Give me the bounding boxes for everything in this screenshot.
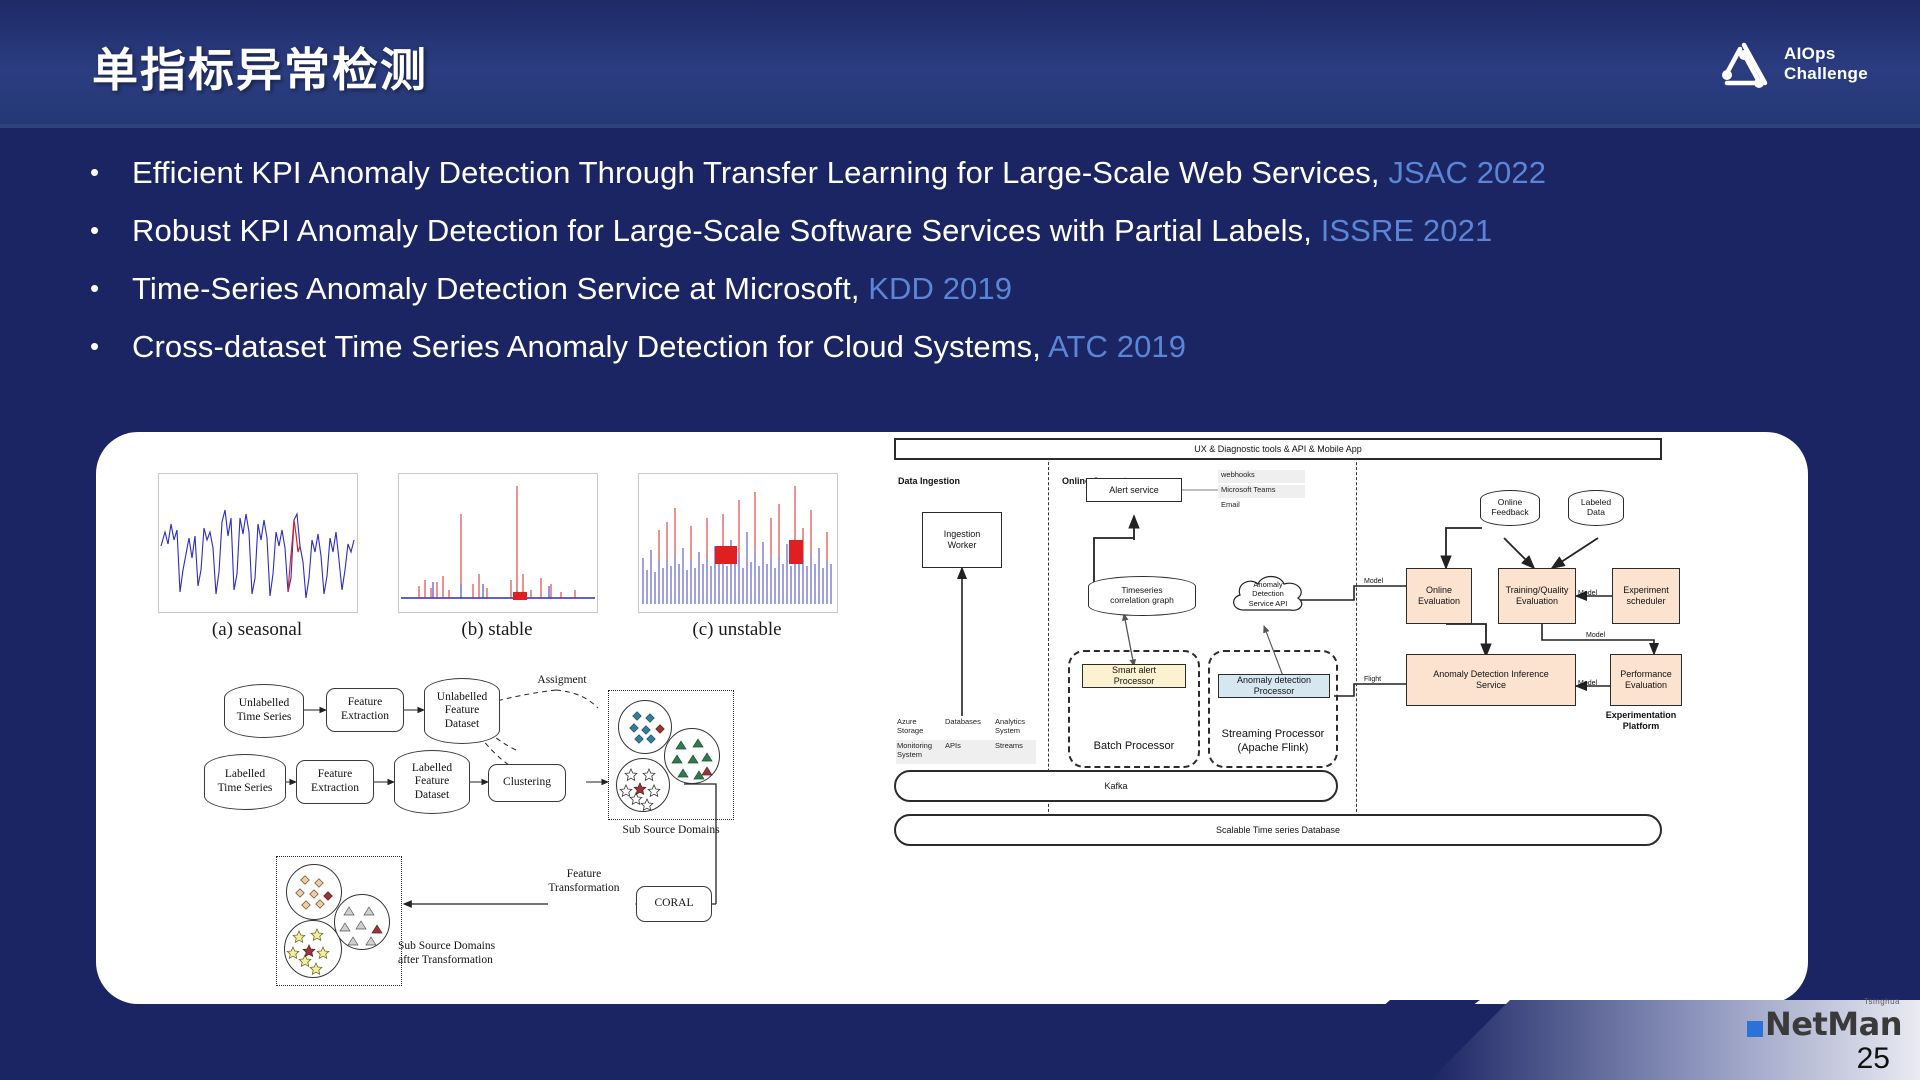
reference-list: • Efficient KPI Anomaly Detection Throug… xyxy=(86,155,1846,387)
list-item: • Cross-dataset Time Series Anomaly Dete… xyxy=(86,329,1846,365)
venue-tag: ATC 2019 xyxy=(1048,329,1186,364)
logo-text: AIOps Challenge xyxy=(1784,44,1868,84)
triangle-markers-transformed xyxy=(335,895,391,951)
divider-compute xyxy=(1356,442,1357,842)
online-feedback-store: OnlineFeedback xyxy=(1480,490,1540,526)
domain-circle-diamonds xyxy=(618,700,672,754)
box-label: Anomaly detectionProcessor xyxy=(1237,675,1311,697)
ux-bar-label: UX & Diagnostic tools & API & Mobile App xyxy=(1194,444,1362,455)
coral-node: CORAL xyxy=(636,886,712,922)
assignment-label: Assigment xyxy=(516,674,608,688)
bullet-marker: • xyxy=(86,329,132,363)
unlabelled-time-series-store: UnlabelledTime Series xyxy=(224,684,304,738)
anomaly-detection-architecture: UX & Diagnostic tools & API & Mobile App… xyxy=(886,432,1786,998)
kpi-caption-unstable: (c) unstable xyxy=(638,619,836,641)
feature-transformation-label: FeatureTransformation xyxy=(534,868,634,896)
domain-circle-triangles xyxy=(664,728,720,784)
logo-line-1: AIOps xyxy=(1784,44,1868,64)
channel-email: Email xyxy=(1218,500,1305,513)
source-apis: APIs xyxy=(944,740,994,761)
star-markers xyxy=(617,759,671,813)
reference-text: Time-Series Anomaly Detection Service at… xyxy=(132,271,1012,307)
experiment-scheduler-box: Experimentscheduler xyxy=(1612,568,1680,624)
box-label: PerformanceEvaluation xyxy=(1620,669,1672,691)
box-label: IngestionWorker xyxy=(944,529,981,551)
list-item: • Robust KPI Anomaly Detection for Large… xyxy=(86,213,1846,249)
node-label: FeatureExtraction xyxy=(311,768,359,795)
training-quality-evaluation-box: Training/QualityEvaluation xyxy=(1498,568,1576,624)
slide-header: 单指标异常检测 AIOps Challenge xyxy=(0,0,1920,128)
reference-text: Robust KPI Anomaly Detection for Large-S… xyxy=(132,213,1492,249)
box-label: LabeledData xyxy=(1581,498,1611,518)
source-databases: Databases xyxy=(944,716,994,737)
feature-extraction-node-1: FeatureExtraction xyxy=(326,688,404,732)
transfer-learning-diagram: UnlabelledTime Series FeatureExtraction … xyxy=(216,672,856,992)
kpi-plot-seasonal xyxy=(158,473,358,613)
kafka-label: Kafka xyxy=(1104,781,1127,791)
kpi-plot-unstable xyxy=(638,473,838,613)
node-label: FeatureExtraction xyxy=(341,696,389,723)
box-label: Alert service xyxy=(1109,485,1159,496)
ingestion-worker-box: IngestionWorker xyxy=(922,512,1002,568)
box-label: OnlineEvaluation xyxy=(1418,585,1460,607)
node-label: LabelledTime Series xyxy=(218,768,273,795)
batch-processor-label: Batch Processor xyxy=(1068,740,1200,754)
venue-tag: ISSRE 2021 xyxy=(1321,213,1493,248)
transformed-circle-diamonds xyxy=(286,864,342,920)
bullet-marker: • xyxy=(86,213,132,247)
node-label: CORAL xyxy=(655,897,694,911)
aiops-challenge-logo: AIOps Challenge xyxy=(1718,40,1868,88)
ux-diagnostic-bar: UX & Diagnostic tools & API & Mobile App xyxy=(894,438,1662,460)
channel-microsoft-teams: Microsoft Teams xyxy=(1218,485,1305,498)
anomaly-detection-service-api-cloud: AnomalyDetectionService API xyxy=(1226,568,1310,622)
kpi-caption-seasonal: (a) seasonal xyxy=(158,619,356,641)
box-label: Timeseriescorrelation graph xyxy=(1110,586,1174,606)
node-label: UnlabelledTime Series xyxy=(237,697,292,724)
section-data-ingestion: Data Ingestion xyxy=(898,476,960,487)
source-analytics-system: AnalyticsSystem xyxy=(994,716,1036,737)
netman-wordmark: NetMan xyxy=(1765,1005,1902,1043)
labelled-feature-dataset-store: LabelledFeatureDataset xyxy=(394,750,470,814)
cloud-label: AnomalyDetectionService API xyxy=(1226,580,1310,608)
venue-tag: KDD 2019 xyxy=(868,271,1012,306)
bullet-marker: • xyxy=(86,155,132,189)
transformed-circle-triangles xyxy=(334,894,390,950)
channel-webhooks: webhooks xyxy=(1218,470,1305,483)
list-item: • Efficient KPI Anomaly Detection Throug… xyxy=(86,155,1846,191)
venue-tag: JSAC 2022 xyxy=(1388,155,1546,190)
performance-evaluation-box: PerformanceEvaluation xyxy=(1610,654,1682,706)
anomaly-detection-inference-service-box: Anomaly Detection InferenceService xyxy=(1406,654,1576,706)
timeseries-correlation-graph-store: Timeseriescorrelation graph xyxy=(1088,576,1196,616)
source-streams: Streams xyxy=(994,740,1036,761)
netman-square-icon xyxy=(1747,1021,1763,1037)
feature-extraction-node-2: FeatureExtraction xyxy=(296,760,374,804)
triangle-markers xyxy=(665,729,721,785)
source-azure-storage: AzureStorage xyxy=(896,716,944,737)
logo-line-2: Challenge xyxy=(1784,64,1868,84)
reference-text: Cross-dataset Time Series Anomaly Detect… xyxy=(132,329,1186,365)
tsdb-label: Scalable Time series Database xyxy=(1216,825,1340,835)
edge-label-model-2: Model xyxy=(1578,590,1597,599)
reference-text: Efficient KPI Anomaly Detection Through … xyxy=(132,155,1546,191)
node-label: Clustering xyxy=(503,776,551,790)
box-label: Experimentscheduler xyxy=(1623,585,1669,607)
box-label: Anomaly Detection InferenceService xyxy=(1433,669,1549,691)
streaming-processor-label: Streaming Processor(Apache Flink) xyxy=(1208,728,1338,756)
edge-label-model-4: Model xyxy=(1578,680,1597,689)
sub-source-after-transformation-label: Sub Source Domainsafter Transformation xyxy=(398,940,548,968)
sub-source-domains-label: Sub Source Domains xyxy=(598,824,744,838)
source-monitoring-system: MonitoringSystem xyxy=(896,740,944,761)
alert-service-box: Alert service xyxy=(1086,478,1182,502)
page-number: 25 xyxy=(1857,1042,1890,1076)
edge-label-model-3: Model xyxy=(1586,632,1605,641)
box-label: OnlineFeedback xyxy=(1491,498,1528,518)
tsinghua-label: Tsinghua xyxy=(1864,997,1900,1006)
source-row-2: MonitoringSystem APIs Streams xyxy=(896,740,1036,764)
kpi-unstable-chart xyxy=(639,474,837,612)
kpi-stable-chart xyxy=(399,474,597,612)
section-experimentation-platform: ExperimentationPlatform xyxy=(1586,710,1696,733)
online-evaluation-box: OnlineEvaluation xyxy=(1406,568,1472,624)
netman-logo: NetMan Tsinghua xyxy=(1747,1008,1902,1040)
domain-circle-stars xyxy=(616,758,670,812)
smart-alert-processor-box: Smart alertProcessor xyxy=(1082,664,1186,688)
labelled-time-series-store: LabelledTime Series xyxy=(204,754,286,810)
box-label: Training/QualityEvaluation xyxy=(1506,585,1569,607)
figure-card: (a) seasonal (b) stable (c) unstable xyxy=(96,432,1808,1004)
edge-label-model-1: Model xyxy=(1364,578,1383,587)
labeled-data-store: LabeledData xyxy=(1568,490,1624,526)
kpi-plot-stable xyxy=(398,473,598,613)
node-label: UnlabelledFeatureDataset xyxy=(437,691,487,732)
page-title: 单指标异常检测 xyxy=(92,34,428,100)
kafka-bar: Kafka xyxy=(894,770,1338,802)
kpi-caption-stable: (b) stable xyxy=(398,619,596,641)
box-label: Smart alertProcessor xyxy=(1112,665,1156,687)
kpi-seasonal-chart xyxy=(159,474,357,612)
node-label: LabelledFeatureDataset xyxy=(412,762,452,803)
scalable-tsdb-bar: Scalable Time series Database xyxy=(894,814,1662,846)
anomaly-detection-processor-box: Anomaly detectionProcessor xyxy=(1218,674,1330,698)
clustering-node: Clustering xyxy=(488,764,566,802)
edge-label-flight: Flight xyxy=(1364,676,1381,685)
list-item: • Time-Series Anomaly Detection Service … xyxy=(86,271,1846,307)
unlabelled-feature-dataset-store: UnlabelledFeatureDataset xyxy=(424,678,500,744)
transformed-circle-stars xyxy=(284,920,342,978)
aiops-triangle-node-icon xyxy=(1718,40,1770,88)
source-row-1: AzureStorage Databases AnalyticsSystem xyxy=(896,716,1036,740)
kpi-figure: (a) seasonal (b) stable (c) unstable xyxy=(158,432,838,571)
bullet-marker: • xyxy=(86,271,132,305)
